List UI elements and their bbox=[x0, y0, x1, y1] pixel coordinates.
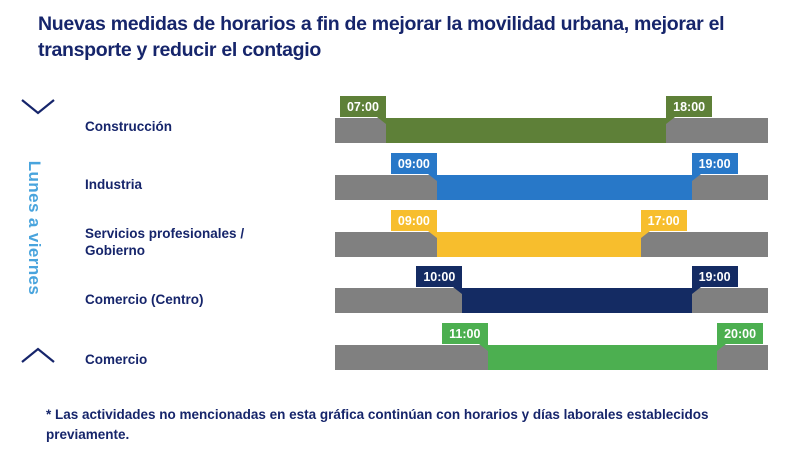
row-label-line: Construcción bbox=[85, 118, 325, 135]
row-label-line: Servicios profesionales / bbox=[85, 225, 325, 242]
tag-pointer bbox=[479, 344, 488, 351]
row-label: Comercio bbox=[85, 351, 325, 368]
row-label: Industria bbox=[85, 176, 325, 193]
start-time-label: 10:00 bbox=[423, 270, 455, 284]
row-label-line: Comercio bbox=[85, 351, 325, 368]
end-time-label: 19:00 bbox=[699, 270, 731, 284]
start-time-tag: 10:00 bbox=[416, 266, 462, 287]
chevron-up-icon bbox=[20, 346, 56, 364]
tag-pointer bbox=[692, 174, 701, 181]
footnote: * Las actividades no mencionadas en esta… bbox=[46, 405, 746, 444]
start-time-tag: 07:00 bbox=[340, 96, 386, 117]
end-time-label: 18:00 bbox=[673, 100, 705, 114]
row-active-segment bbox=[386, 118, 666, 143]
start-time-label: 09:00 bbox=[398, 157, 430, 171]
start-time-label: 07:00 bbox=[347, 100, 379, 114]
weekday-axis: Lunes a viernes bbox=[0, 96, 80, 386]
row-label-line: Gobierno bbox=[85, 242, 325, 259]
end-time-tag: 18:00 bbox=[666, 96, 712, 117]
tag-pointer bbox=[428, 231, 437, 238]
row-label-line: Industria bbox=[85, 176, 325, 193]
row-active-segment bbox=[462, 288, 691, 313]
start-time-tag: 09:00 bbox=[391, 210, 437, 231]
row-active-segment bbox=[437, 232, 641, 257]
tag-pointer bbox=[692, 287, 701, 294]
row-label: Servicios profesionales /Gobierno bbox=[85, 225, 325, 260]
tag-pointer bbox=[377, 117, 386, 124]
end-time-label: 19:00 bbox=[699, 157, 731, 171]
start-time-tag: 09:00 bbox=[391, 153, 437, 174]
row-active-segment bbox=[488, 345, 717, 370]
row-active-segment bbox=[437, 175, 692, 200]
row-label: Construcción bbox=[85, 118, 325, 135]
end-time-tag: 17:00 bbox=[641, 210, 687, 231]
end-time-label: 17:00 bbox=[648, 214, 680, 228]
tag-pointer bbox=[641, 231, 650, 238]
start-time-label: 11:00 bbox=[449, 327, 480, 341]
tag-pointer bbox=[453, 287, 462, 294]
end-time-tag: 19:00 bbox=[692, 266, 738, 287]
end-time-label: 20:00 bbox=[724, 327, 756, 341]
row-label-line: Comercio (Centro) bbox=[85, 291, 325, 308]
start-time-label: 09:00 bbox=[398, 214, 430, 228]
tag-pointer bbox=[717, 344, 726, 351]
tag-pointer bbox=[666, 117, 675, 124]
row-label: Comercio (Centro) bbox=[85, 291, 325, 308]
end-time-tag: 20:00 bbox=[717, 323, 763, 344]
end-time-tag: 19:00 bbox=[692, 153, 738, 174]
tag-pointer bbox=[428, 174, 437, 181]
weekday-axis-label: Lunes a viernes bbox=[24, 118, 44, 338]
page-title: Nuevas medidas de horarios a fin de mejo… bbox=[38, 12, 768, 64]
start-time-tag: 11:00 bbox=[442, 323, 488, 344]
chevron-down-icon bbox=[20, 98, 56, 116]
